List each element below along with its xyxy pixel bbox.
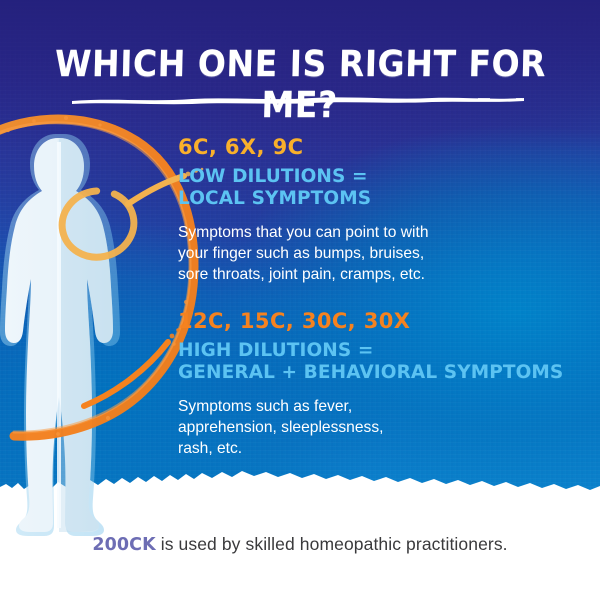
low-dilution-subheading: LOW DILUTIONS = LOCAL SYMPTOMS — [178, 166, 588, 209]
content-column: 6C, 6X, 9C LOW DILUTIONS = LOCAL SYMPTOM… — [178, 136, 588, 459]
title-underline-brush — [72, 96, 524, 105]
low-dilution-description: Symptoms that you can point to with your… — [178, 222, 588, 285]
high-body-line3: rash, etc. — [178, 438, 588, 459]
footer-code-200ck: 200CK — [92, 535, 155, 555]
low-subhead-line2: LOCAL SYMPTOMS — [178, 188, 588, 209]
high-body-line1: Symptoms such as fever, — [178, 396, 588, 417]
page-title: WHICH ONE IS RIGHT FOR ME? — [23, 44, 577, 126]
high-dilution-subheading: HIGH DILUTIONS = GENERAL + BEHAVIORAL SY… — [178, 340, 588, 383]
low-subhead-line1: LOW DILUTIONS = — [178, 166, 368, 187]
infographic-poster: WHICH ONE IS RIGHT FOR ME? 6C, 6X, 9C LO… — [0, 0, 600, 600]
low-dilution-codes: 6C, 6X, 9C — [178, 136, 588, 158]
high-dilution-description: Symptoms such as fever, apprehension, sl… — [178, 396, 588, 459]
high-subhead-line2: GENERAL + BEHAVIORAL SYMPTOMS — [178, 362, 588, 383]
shoulder-marker-circle — [56, 184, 140, 264]
low-body-line2: your finger such as bumps, bruises, — [178, 243, 588, 264]
footer-text: is used by skilled homeopathic practitio… — [156, 534, 508, 554]
high-dilution-codes: 12C, 15C, 30C, 30X — [178, 310, 588, 332]
high-subhead-line1: HIGH DILUTIONS = — [178, 340, 373, 361]
footer-note: 200CK is used by skilled homeopathic pra… — [0, 534, 600, 555]
dilution-block-high: 12C, 15C, 30C, 30X HIGH DILUTIONS = GENE… — [178, 310, 588, 459]
section-gap — [178, 285, 588, 310]
low-body-line1: Symptoms that you can point to with — [178, 222, 588, 243]
low-body-line3: sore throats, joint pain, cramps, etc. — [178, 264, 588, 285]
dilution-block-low: 6C, 6X, 9C LOW DILUTIONS = LOCAL SYMPTOM… — [178, 136, 588, 285]
high-body-line2: apprehension, sleeplessness, — [178, 417, 588, 438]
